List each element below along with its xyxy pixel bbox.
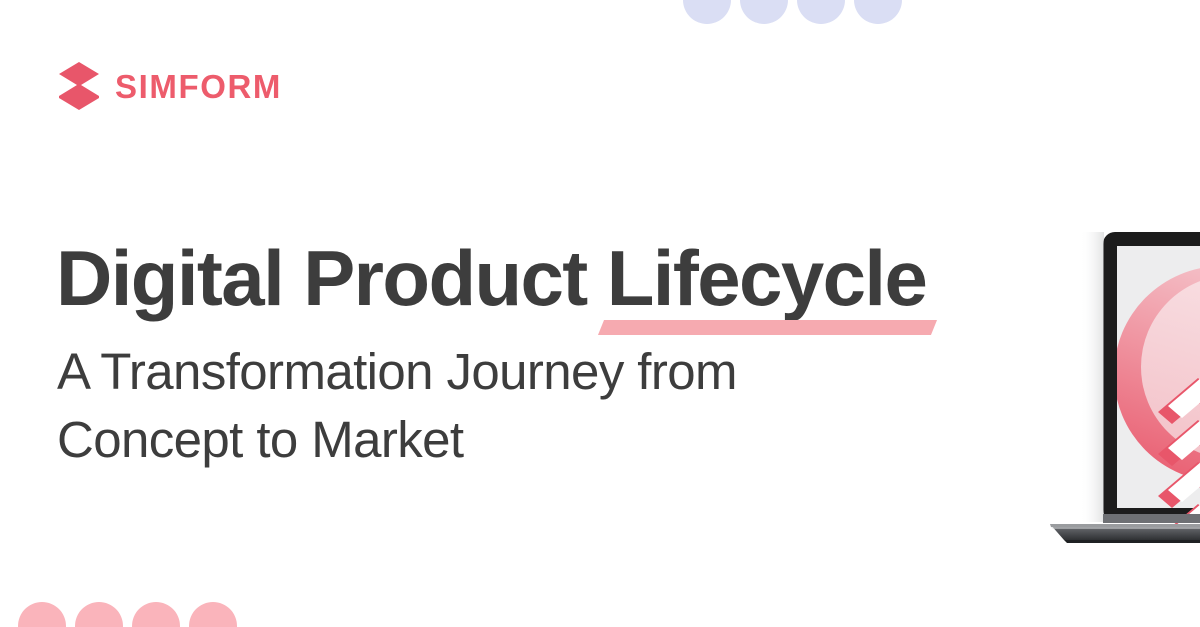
- simform-s-mark-icon: [57, 62, 101, 110]
- headline-lead: Digital Product: [56, 234, 607, 322]
- laptop-hinge: [1103, 514, 1200, 523]
- subtitle-line-2: Concept to Market: [57, 406, 737, 473]
- decorative-dot: [189, 602, 237, 627]
- poster-canvas: SIMFORM Digital Product Lifecycle A Tran…: [0, 0, 1200, 627]
- page-subtitle: A Transformation Journey from Concept to…: [57, 338, 737, 473]
- decorative-dot: [683, 0, 731, 24]
- brand-logo[interactable]: SIMFORM: [57, 62, 282, 110]
- decorative-dot: [854, 0, 902, 24]
- headline-emphasis-wrap: Lifecycle: [607, 238, 926, 319]
- decorative-dot: [132, 602, 180, 627]
- decorative-dot: [797, 0, 845, 24]
- headline-underline-accent: [598, 320, 938, 335]
- page-title: Digital Product Lifecycle: [56, 238, 926, 319]
- headline-emphasis: Lifecycle: [607, 234, 926, 322]
- decorative-dot-row-top: [683, 0, 902, 24]
- decorative-dot: [75, 602, 123, 627]
- laptop-base: [1050, 524, 1200, 543]
- decorative-dot: [18, 602, 66, 627]
- brand-wordmark: SIMFORM: [115, 70, 282, 103]
- decorative-dot-row-bottom: [18, 602, 237, 627]
- subtitle-line-1: A Transformation Journey from: [57, 338, 737, 405]
- decorative-dot: [740, 0, 788, 24]
- laptop-illustration: [1040, 224, 1200, 544]
